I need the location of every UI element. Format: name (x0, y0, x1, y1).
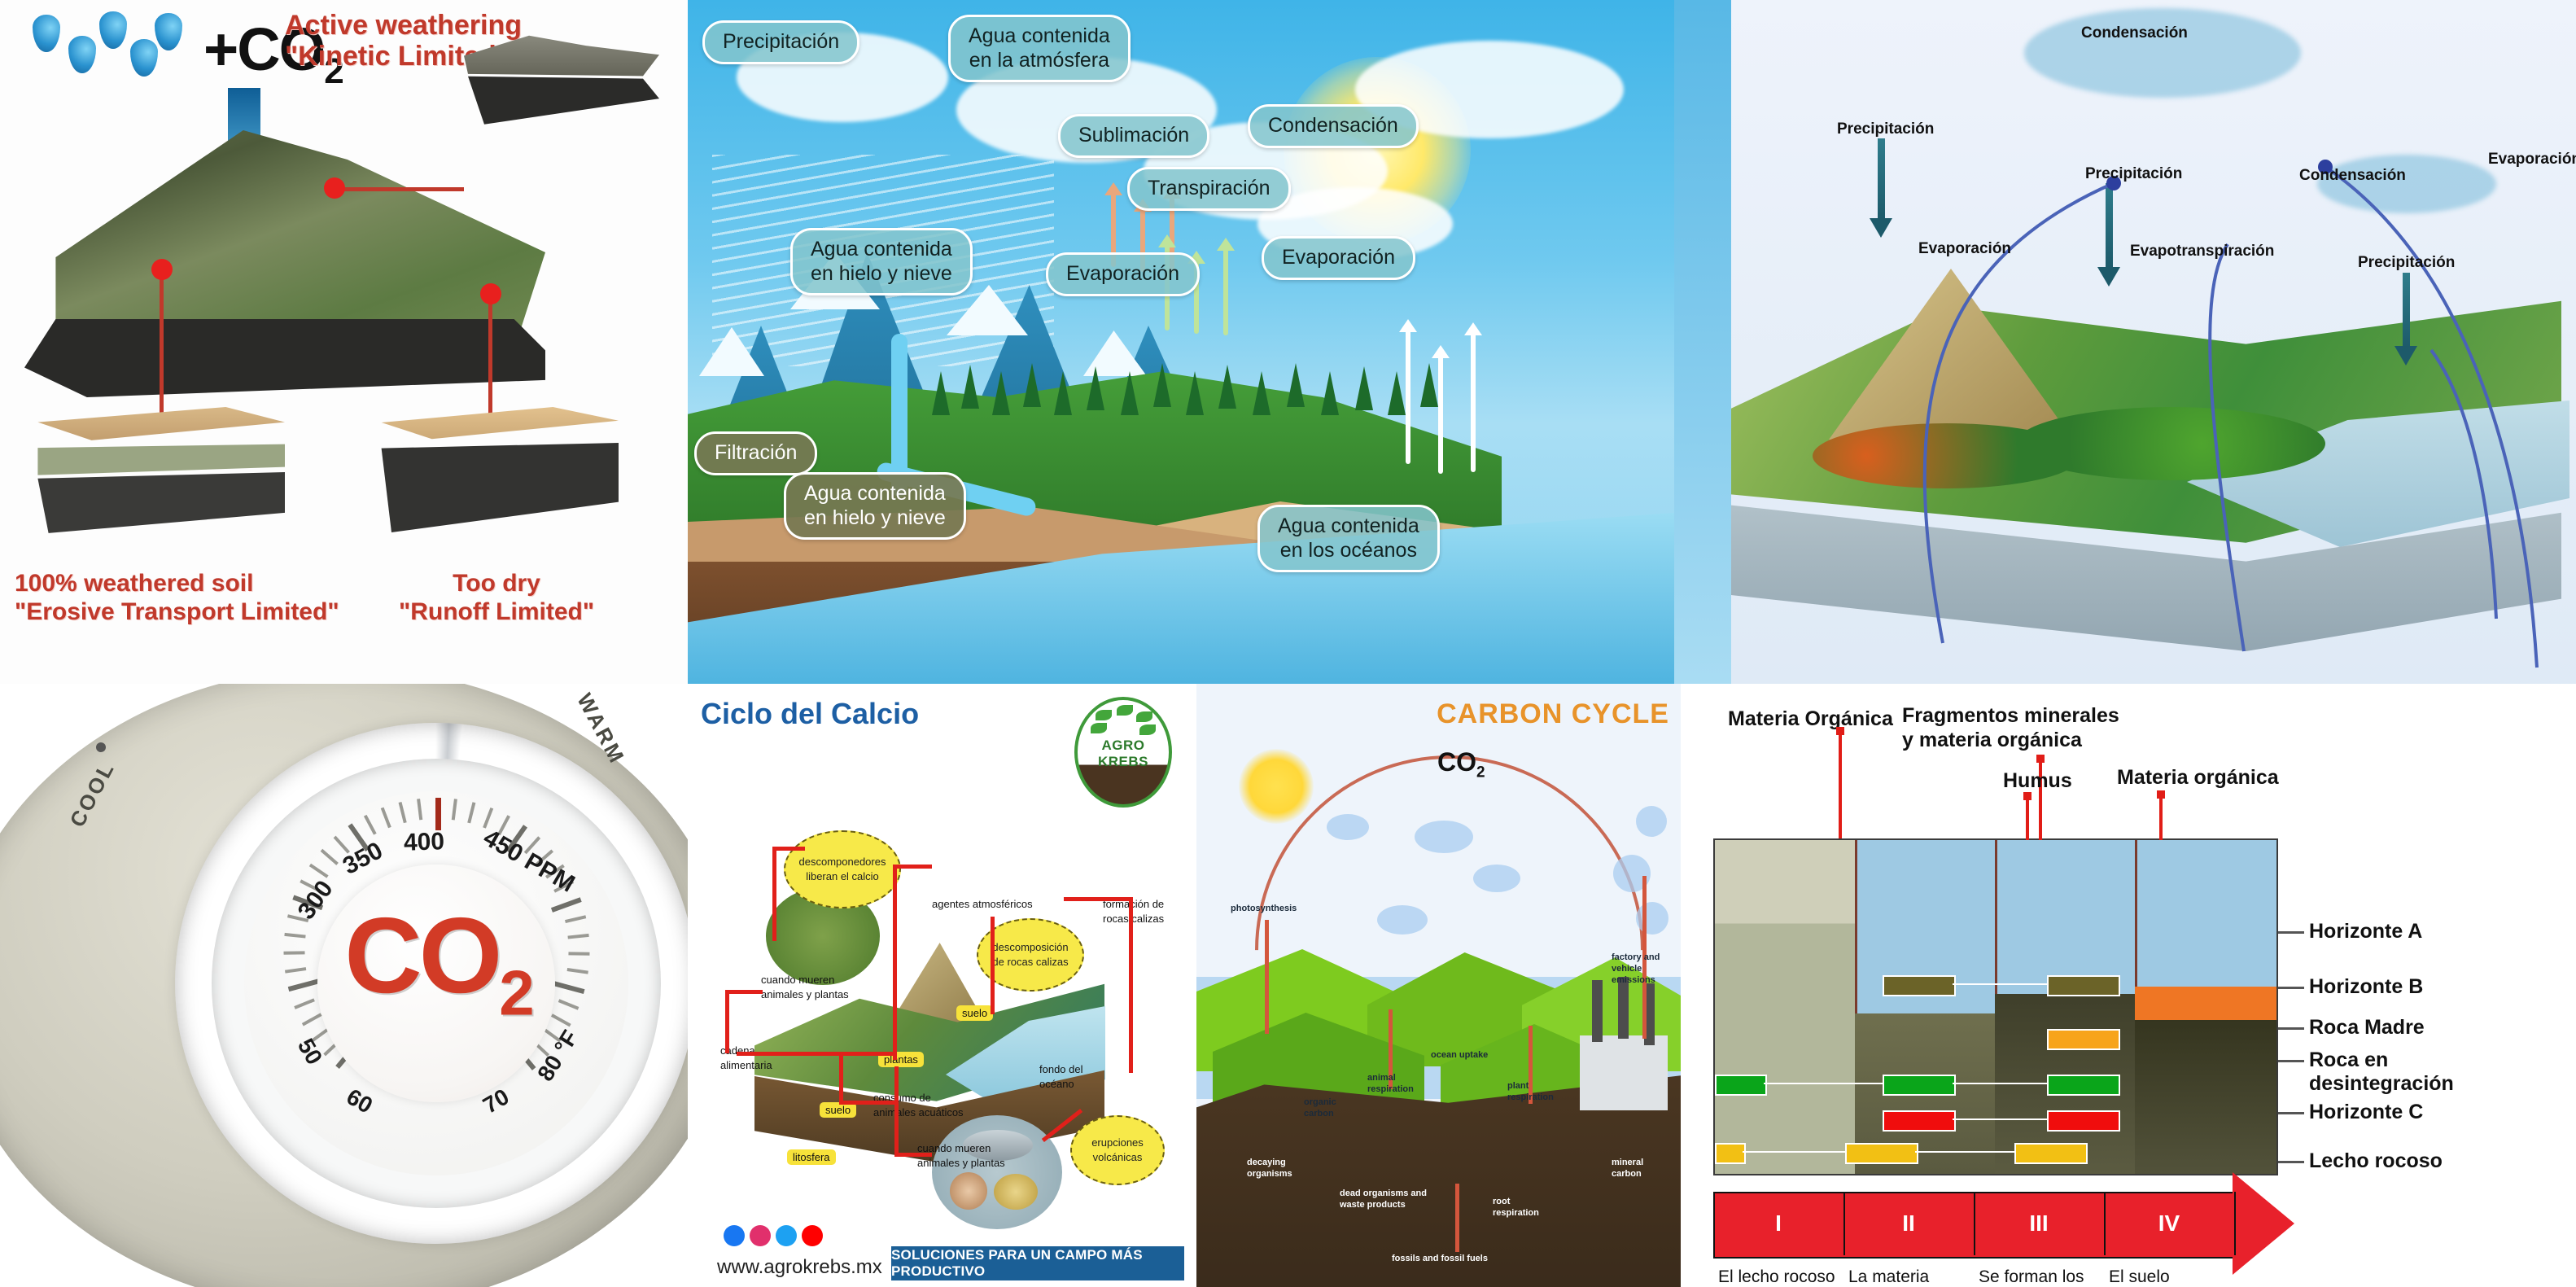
arrow-segment (772, 847, 776, 941)
marker-dot-right (480, 283, 501, 304)
carbon-cycle-label: photosynthesis (1231, 904, 1297, 915)
twitter-icon[interactable] (776, 1225, 797, 1246)
co2-center-text: CO2 (332, 894, 544, 1030)
image-collage: +CO2 Active weathering "Kinetic Limited"… (0, 0, 2576, 1287)
carbon-cycle-label: fossils and fossil fuels (1392, 1254, 1488, 1265)
arrow-segment (725, 990, 763, 994)
panel-co2-thermostat: COOL WARM CO2 300350400450 PPM50607080 °… (0, 684, 688, 1287)
evaporation-arrow-icon (1438, 352, 1443, 474)
social-icons[interactable] (724, 1225, 823, 1246)
soil-pointer-line (2026, 799, 2029, 840)
arrow-segment (772, 847, 805, 851)
co2-label: CO2 (1437, 747, 1485, 781)
soil-caption: Humus (2003, 768, 2072, 793)
carbon-cycle-label: decaying organisms (1247, 1158, 1292, 1180)
water-cycle-chip: Agua contenida en los océanos (1257, 505, 1440, 572)
soil-slab-right (366, 407, 619, 554)
flow-arrow-icon (1455, 1184, 1459, 1252)
hydro-cycle-label: Evaporación (2488, 151, 2576, 169)
flow-arrows-svg (1674, 0, 2576, 684)
calcium-text: fondo del océano (1039, 1062, 1121, 1092)
emission-bubble (1636, 806, 1667, 837)
calcium-tag: litosfera (787, 1149, 836, 1165)
panel-carbon-cycle: CARBON CYCLE CO2 photosynthesisfactory a… (1196, 684, 1681, 1287)
website-url[interactable]: www.agrokrebs.mx (717, 1256, 882, 1279)
shell-icon (950, 1172, 987, 1210)
label-erosive-line1: 100% weathered soil (15, 570, 339, 598)
connector-line-left (160, 269, 164, 415)
soil-legend-item: Horizonte A (2309, 920, 2422, 943)
carbon-cycle-label: plant respiration (1507, 1081, 1554, 1104)
legend-leader-line (2278, 931, 2304, 934)
water-cycle-chip: Transpiración (1127, 167, 1291, 211)
soil-legend-item: Roca Madre (2309, 1016, 2425, 1040)
legend-leader-line (2278, 1112, 2304, 1114)
smokestack (1592, 980, 1603, 1042)
arrow-segment (1129, 897, 1133, 1050)
hydro-cycle-label: Condensación (2299, 167, 2406, 185)
arrow-segment (894, 1153, 932, 1157)
panel-water-cycle-spanish: PrecipitaciónAgua contenida en la atmósf… (688, 0, 1674, 684)
soil-caption: Fragmentos minerales y materia orgánica (1902, 703, 2119, 752)
hydro-cycle-label: Evapotranspiración (2130, 243, 2274, 260)
legend-leader-line (2278, 1060, 2304, 1062)
carbon-cycle-label: factory and vehicle emissions (1612, 952, 1660, 986)
swatch-roca-madre (2047, 1075, 2120, 1096)
soil-profile-diagram (1713, 838, 2278, 1175)
arrow-segment (839, 1101, 896, 1105)
connector-line-right (488, 293, 492, 415)
panel-hydrologic-cycle: CondensaciónPrecipitaciónPrecipitaciónCo… (1674, 0, 2576, 684)
arrow-segment (737, 1052, 893, 1056)
instagram-icon[interactable] (750, 1225, 771, 1246)
label-runoff-line2: "Runoff Limited" (399, 598, 594, 627)
water-cycle-chip: Agua contenida en hielo y nieve (790, 228, 973, 295)
evaporation-arrow-icon (1471, 329, 1476, 472)
label-erosive-line2: "Erosive Transport Limited" (15, 598, 339, 627)
soil-pointer-line (2159, 798, 2163, 840)
swatch-lecho-rocoso (1715, 1143, 1746, 1164)
arrow-segment (894, 1066, 899, 1156)
carbon-cycle-title: CARBON CYCLE (1437, 698, 1669, 730)
stage-arrow-head (2233, 1172, 2294, 1275)
swatch-lecho-rocoso (1845, 1143, 1918, 1164)
legend-leader-line (2278, 1027, 2304, 1030)
soil-caption: Materia Orgánica (1728, 707, 1893, 731)
calcium-text: agentes atmosféricos (932, 897, 1062, 912)
panel-calcium-cycle: Ciclo del Calcio AGRO KREBS descomponedo… (688, 684, 1196, 1287)
factory-building (1580, 1035, 1668, 1110)
promo-banner: SOLUCIONES PARA UN CAMPO MÁS PRODUCTIVO (891, 1246, 1184, 1280)
calcium-bubble: erupciones volcánicas (1070, 1115, 1165, 1185)
stage-roman: III (1974, 1192, 2106, 1255)
carbon-cycle-label: root respiration (1493, 1197, 1539, 1219)
connector-line-top (342, 187, 464, 191)
hydro-cycle-label: Precipitación (1837, 120, 1934, 138)
emission-bubble (1636, 902, 1668, 935)
hydro-cycle-label: Precipitación (2358, 254, 2455, 272)
cloud-shape (1415, 821, 1473, 853)
water-cycle-chip: Evaporación (1046, 252, 1200, 296)
water-cycle-chip: Agua contenida en hielo y nieve (784, 472, 966, 540)
swatch-horizonte-a (1883, 975, 1956, 996)
evaporation-arrow-icon (1406, 326, 1410, 464)
sun-icon (1239, 749, 1314, 824)
cloud-shape (1377, 905, 1428, 935)
swatch-roca-desintegracion (1883, 1110, 1956, 1132)
swatch-horizonte-b (2047, 1029, 2120, 1050)
swatch-lecho-rocoso (2014, 1143, 2088, 1164)
cloud-shape (1327, 814, 1369, 840)
calcium-text: consumo de animales acuáticos (873, 1091, 995, 1120)
label-runoff-line1: Too dry (399, 570, 594, 598)
panel-weathering-diagram: +CO2 Active weathering "Kinetic Limited"… (0, 0, 688, 684)
calcium-text: cuando mueren animales y plantas (917, 1141, 1039, 1171)
marker-dot-top (324, 177, 345, 199)
arrow-segment (893, 865, 897, 1060)
hydro-cycle-label: Evaporación (1918, 240, 2011, 258)
calcium-tag: suelo (956, 1005, 993, 1021)
stage-description: El lecho rocoso empieza a desintegrarse (1718, 1267, 1839, 1287)
label-erosive-transport: 100% weathered soil "Erosive Transport L… (15, 570, 339, 627)
swatch-roca-madre (1883, 1075, 1956, 1096)
swatch-roca-desintegracion (2047, 1110, 2120, 1132)
soil-legend-item: Lecho rocoso (2309, 1149, 2443, 1173)
stage-roman: IV (2104, 1192, 2236, 1255)
carbon-cycle-label: organic carbon (1304, 1097, 1336, 1120)
soil-pointer-line (1839, 734, 1842, 838)
youtube-icon[interactable] (802, 1225, 823, 1246)
stage-description: La materia orgánica facilita la desinteg… (1848, 1267, 1969, 1287)
arrow-segment (991, 917, 995, 1014)
stage-description: Se forman los horizontes (1979, 1267, 2099, 1287)
soil-caption: Materia orgánica (2117, 765, 2279, 790)
soil-slab-left (16, 407, 285, 554)
water-cycle-chip: Filtración (694, 431, 817, 475)
water-cycle-chip: Evaporación (1262, 236, 1415, 280)
stage-roman: II (1843, 1192, 1975, 1255)
panel-soil-horizons: Materia OrgánicaFragmentos minerales y m… (1681, 684, 2576, 1287)
water-cycle-chip: Sublimación (1058, 114, 1209, 158)
facebook-icon[interactable] (724, 1225, 745, 1246)
arrow-segment (1129, 1048, 1133, 1073)
agrokrebs-logo-text: AGRO KREBS (1078, 738, 1169, 770)
dial-tick (568, 952, 589, 955)
hydro-cycle-label: Condensación (2081, 24, 2188, 42)
clam-icon (994, 1174, 1038, 1210)
carbon-cycle-label: dead organisms and waste products (1340, 1189, 1427, 1211)
arrow-segment (725, 990, 729, 1053)
flow-arrow-icon (1265, 920, 1269, 1034)
legend-leader-line (2278, 1161, 2304, 1163)
soil-legend-item: Horizonte C (2309, 1101, 2423, 1124)
water-droplets-icon (33, 11, 195, 85)
legend-leader-line (2278, 987, 2304, 989)
soil-legend-item: Horizonte B (2309, 975, 2423, 999)
agrokrebs-logo: AGRO KREBS (1074, 697, 1172, 808)
arrow-segment (839, 1052, 843, 1104)
arrow-segment (1064, 897, 1132, 901)
forest-trees (932, 317, 1453, 415)
water-cycle-chip: Agua contenida en la atmósfera (948, 15, 1131, 82)
arrow-segment (893, 865, 932, 869)
smokestack (1618, 977, 1629, 1039)
carbon-cycle-label: animal respiration (1367, 1073, 1414, 1096)
stage-description: El suelo desarrollado sustenta una veget… (2109, 1267, 2229, 1287)
water-cycle-chip: Precipitación (702, 20, 859, 64)
water-cycle-chip: Condensación (1248, 104, 1419, 148)
calcium-text: cuando mueren animales y plantas (761, 973, 875, 1002)
marker-dot-left (151, 259, 173, 280)
hydro-cycle-label: Precipitación (2085, 165, 2182, 183)
calcium-text: cadena alimentaria (720, 1044, 810, 1073)
indicator-dot (96, 742, 106, 752)
label-runoff-limited: Too dry "Runoff Limited" (399, 570, 594, 627)
swatch-roca-madre (1715, 1075, 1767, 1096)
carbon-cycle-label: mineral carbon (1612, 1158, 1643, 1180)
dial-pointer (435, 798, 441, 830)
dial-ppm-number: 400 (403, 828, 444, 857)
dial-tick (283, 951, 304, 954)
transpiration-arrow-icon (1223, 244, 1228, 335)
cloud-shape (1473, 865, 1520, 892)
stage-roman: I (1713, 1192, 1845, 1255)
calcium-bubble: descomponedores liberan el calcio (784, 830, 901, 908)
swatch-horizonte-a (2047, 975, 2120, 996)
calcium-cycle-title: Ciclo del Calcio (701, 697, 919, 731)
mountain-block-3d (24, 106, 545, 399)
soil-legend-item: Roca en desintegración (2309, 1048, 2454, 1095)
carbon-cycle-label: ocean uptake (1431, 1050, 1488, 1062)
calcium-text: formación de rocas calizas (1103, 897, 1192, 926)
